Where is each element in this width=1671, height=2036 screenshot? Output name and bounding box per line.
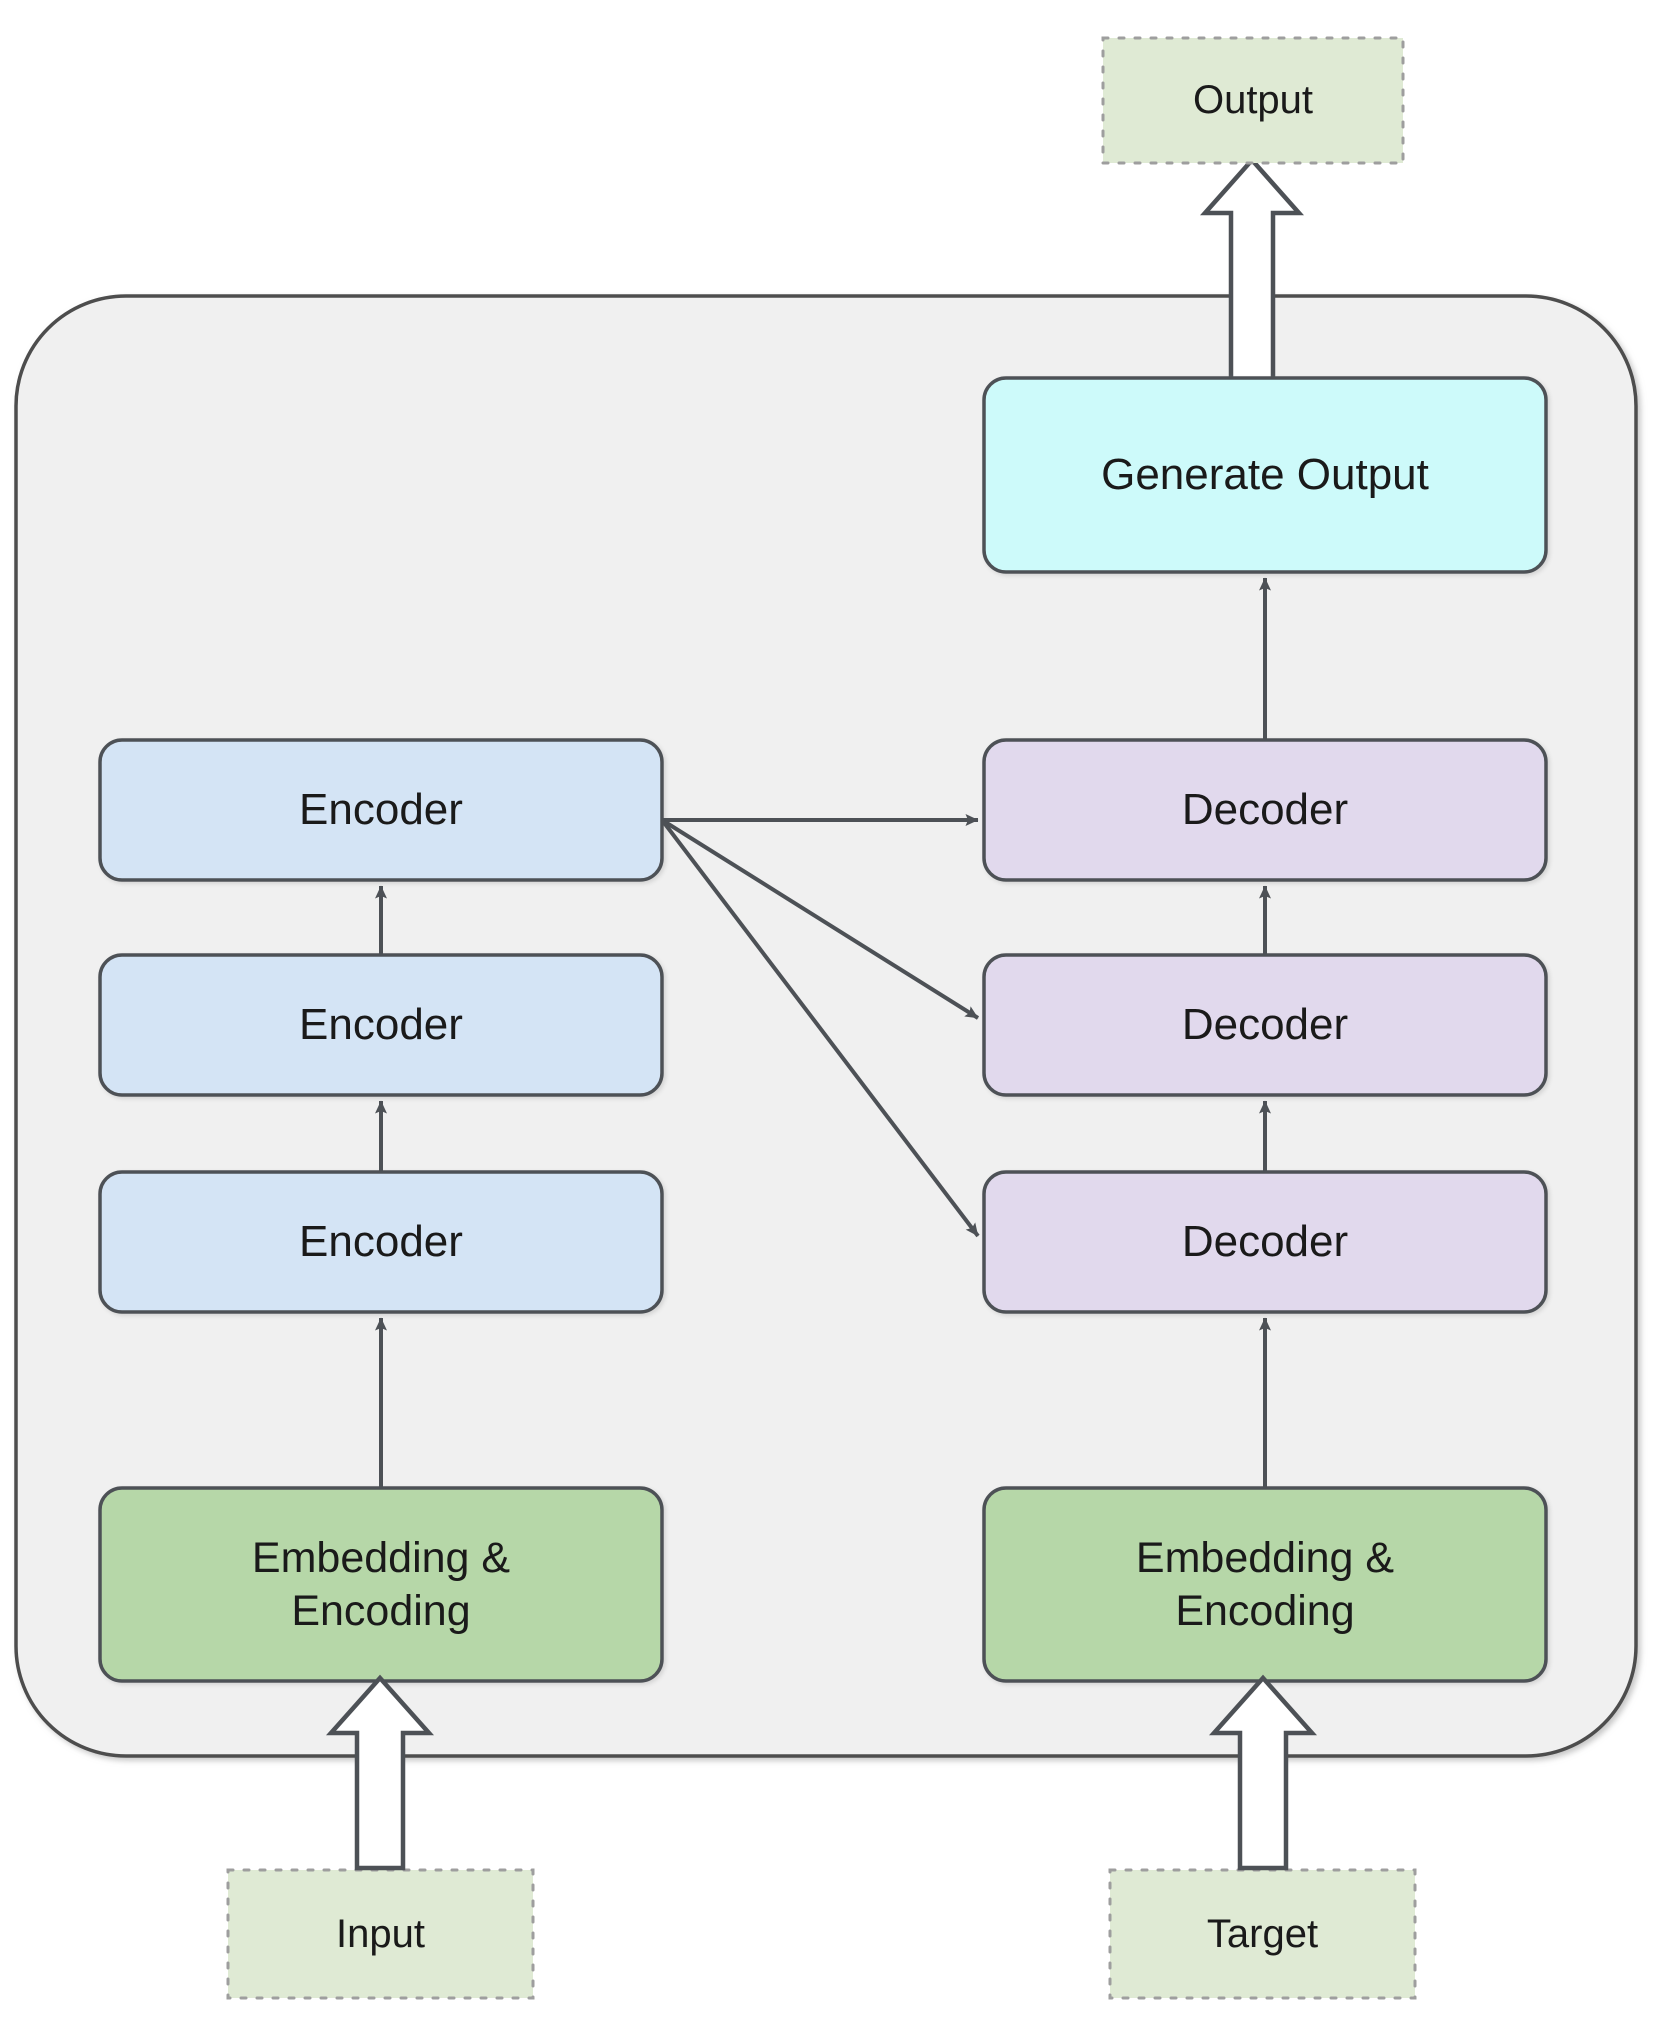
node-decoder-top [984,740,1546,880]
node-input [228,1870,533,1998]
node-decoder-bottom [984,1172,1546,1312]
diagram-canvas: Output Generate Output Encoder Encoder E… [0,0,1671,2036]
node-embedding-target [984,1488,1546,1681]
node-encoder-bottom [100,1172,662,1312]
node-encoder-top [100,740,662,880]
node-decoder-mid [984,955,1546,1095]
node-encoder-mid [100,955,662,1095]
node-generate-output [984,378,1546,572]
node-target [1110,1870,1415,1998]
node-embedding-source [100,1488,662,1681]
node-output [1103,38,1403,163]
transformer-architecture-diagram [0,0,1671,2036]
